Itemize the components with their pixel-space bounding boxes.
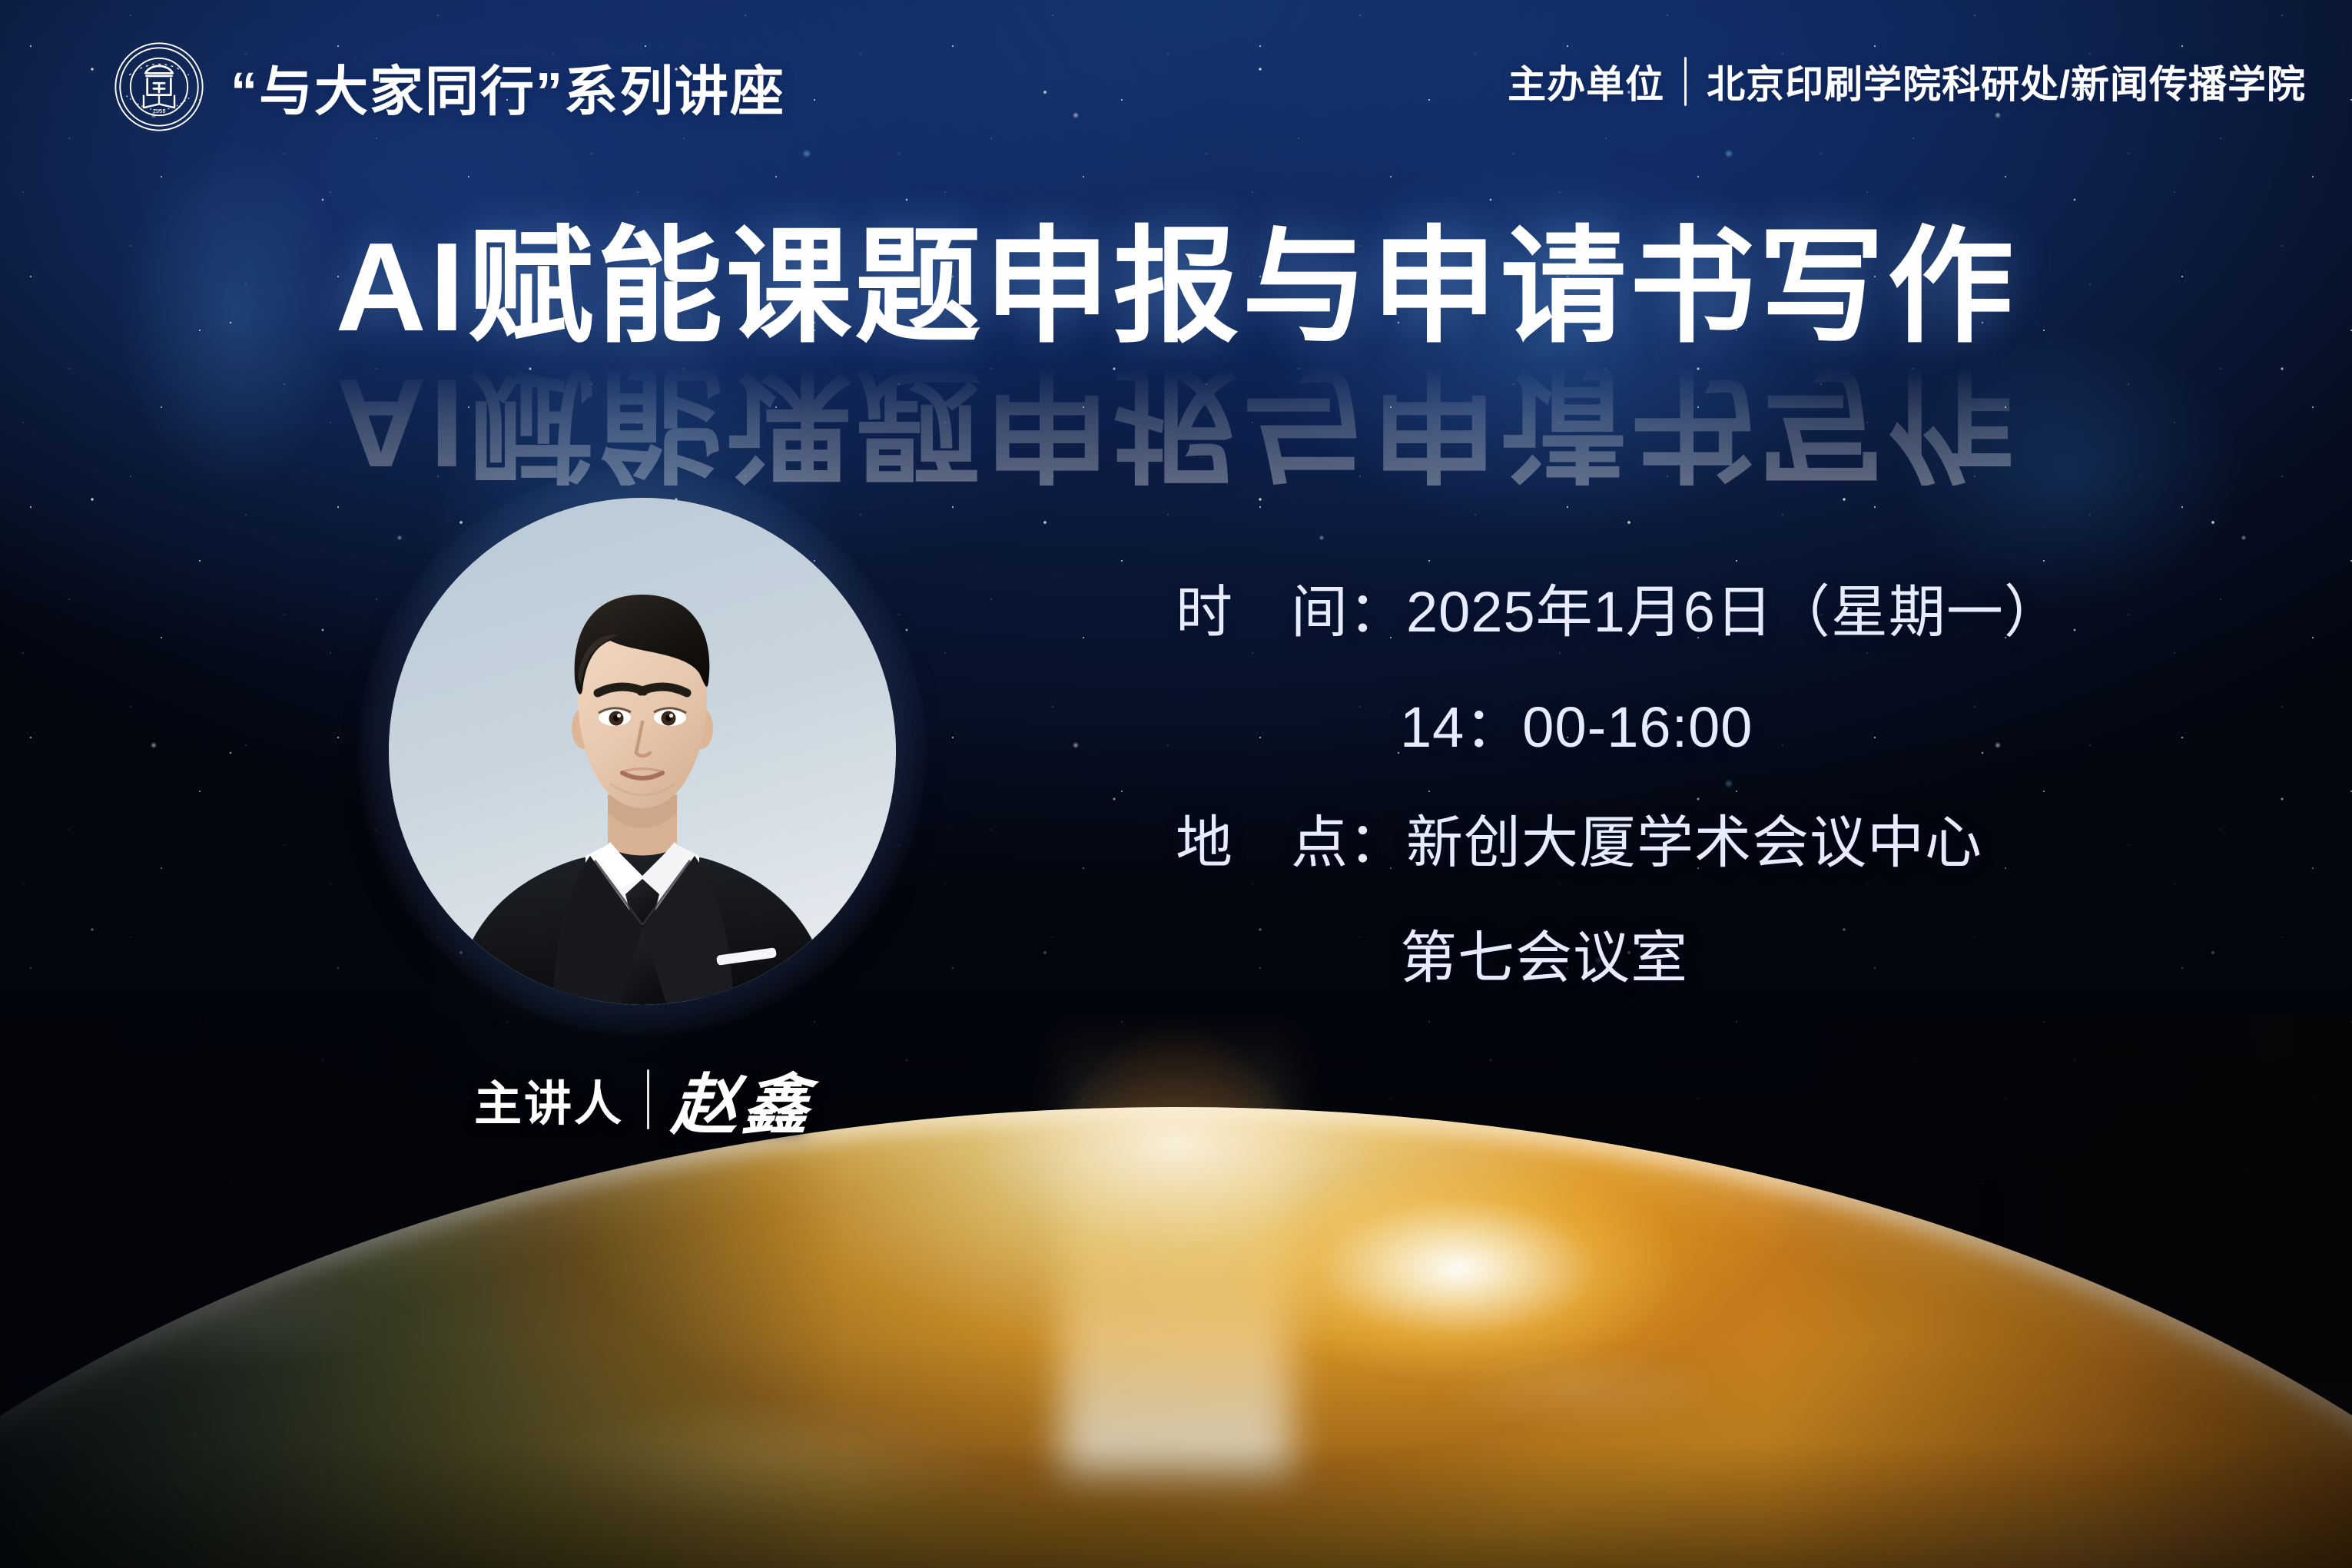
main-title-reflection: AI赋能课题申报与申请书写作 [0, 360, 2352, 486]
organizer-divider [1684, 57, 1687, 106]
university-seal-icon: 1958 [114, 41, 204, 132]
organizer-label: 主办单位 [1508, 54, 1664, 109]
poster-header: 1958 “与大家同行”系列讲座 主办单位 北京印刷学院科研处/新闻传播学院 [0, 37, 2352, 129]
event-info-block: 时 间：2025年1月6日（星期一） 14：00-16:00 地 点：新创大厦学… [1176, 584, 2282, 986]
main-title: AI赋能课题申报与申请书写作 [335, 224, 2016, 350]
info-venue-label: 地 点： [1176, 811, 1406, 874]
speaker-role-label: 主讲人 [474, 1065, 624, 1134]
speaker-line: 主讲人 赵鑫 [444, 1051, 844, 1147]
info-venue-value: 新创大厦学术会议中心 [1406, 811, 1982, 874]
brand-lockup: 1958 “与大家同行”系列讲座 [114, 41, 785, 132]
info-time-value: 2025年1月6日（星期一） [1406, 580, 2062, 644]
speaker-portrait-wrap [389, 498, 896, 1005]
info-time-label: 时 间： [1176, 580, 1406, 644]
info-row-room: 第七会议室 [1176, 930, 2282, 986]
speaker-portrait [389, 498, 896, 1005]
main-title-block: AI赋能课题申报与申请书写作 AI赋能课题申报与申请书写作 [0, 224, 2352, 350]
organizer-value: 北京印刷学院科研处/新闻传播学院 [1707, 54, 2306, 109]
info-room-value: 第七会议室 [1400, 926, 1688, 990]
info-row-time: 时 间：2025年1月6日（星期一） [1176, 584, 2282, 641]
speaker-name: 赵鑫 [669, 1051, 818, 1147]
info-row-time-range: 14：00-16:00 [1176, 699, 2282, 756]
lecture-poster: 1958 “与大家同行”系列讲座 主办单位 北京印刷学院科研处/新闻传播学院 A… [0, 0, 2352, 1568]
info-time-range-value: 14：00-16:00 [1400, 695, 1753, 759]
speaker-divider [647, 1069, 649, 1129]
portrait-illustration [389, 498, 896, 1005]
series-title: “与大家同行”系列讲座 [231, 48, 785, 126]
svg-text:1958: 1958 [152, 108, 165, 114]
organizer-line: 主办单位 北京印刷学院科研处/新闻传播学院 [1508, 54, 2306, 109]
main-title-mirror: AI赋能课题申报与申请书写作 [335, 360, 2016, 486]
info-row-venue: 地 点：新创大厦学术会议中心 [1176, 814, 2282, 871]
poster-content: 1958 “与大家同行”系列讲座 主办单位 北京印刷学院科研处/新闻传播学院 A… [0, 0, 2352, 1568]
